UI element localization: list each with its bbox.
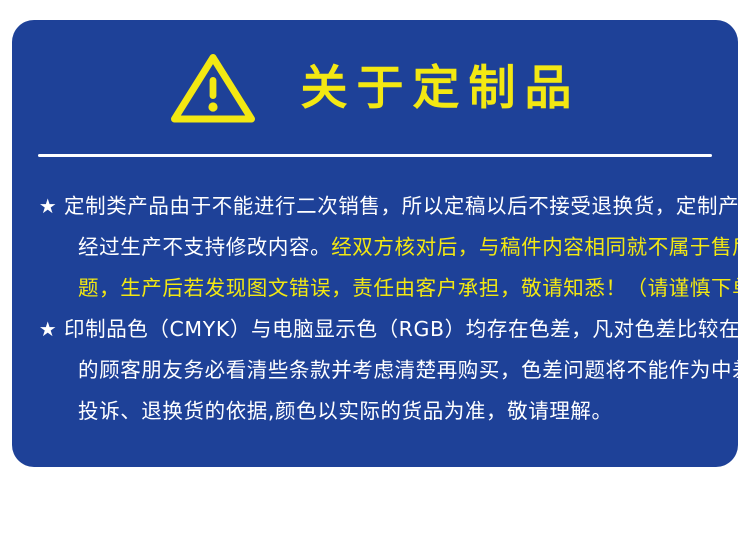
star-bullet-icon: ★ [37, 309, 59, 350]
text-run: 的顾客朋友务必看清些条款并考虑清楚再购买，色差问题将不能作为中差评、 [78, 358, 738, 382]
text-run: 经过生产不支持修改内容。 [78, 235, 331, 259]
page-title: 关于定制品 [292, 65, 581, 112]
text-line: 题，生产后若发现图文错误，责任由客户承担，敬请知悉！（请谨慎下单） [64, 268, 728, 309]
list-item-text: 定制类产品由于不能进行二次销售，所以定稿以后不接受退换货，定制产品 经过生产不支… [28, 186, 728, 309]
list-item: ★ 定制类产品由于不能进行二次销售，所以定稿以后不接受退换货，定制产品 经过生产… [28, 186, 728, 309]
star-bullet-icon: ★ [37, 186, 59, 227]
text-line: 经过生产不支持修改内容。经双方核对后，与稿件内容相同就不属于售后问 [64, 227, 728, 268]
notice-body: ★ 定制类产品由于不能进行二次销售，所以定稿以后不接受退换货，定制产品 经过生产… [28, 186, 728, 432]
text-line: 投诉、退换货的依据,颜色以实际的货品为准，敬请理解。 [64, 391, 728, 432]
notice-header: 关于定制品 [12, 42, 738, 134]
text-line: 印制品色（CMYK）与电脑显示色（RGB）均存在色差，凡对色差比较在意 [64, 309, 728, 350]
custom-product-notice-page: 关于定制品 ★ 定制类产品由于不能进行二次销售，所以定稿以后不接受退换货，定制产… [0, 0, 750, 539]
list-item-text: 印制品色（CMYK）与电脑显示色（RGB）均存在色差，凡对色差比较在意 的顾客朋… [28, 309, 728, 432]
header-divider [38, 154, 712, 157]
list-item: ★ 印制品色（CMYK）与电脑显示色（RGB）均存在色差，凡对色差比较在意 的顾… [28, 309, 728, 432]
text-line: 定制类产品由于不能进行二次销售，所以定稿以后不接受退换货，定制产品 [64, 186, 728, 227]
warning-triangle-icon [170, 51, 256, 125]
text-line: 的顾客朋友务必看清些条款并考虑清楚再购买，色差问题将不能作为中差评、 [64, 350, 728, 391]
text-run-highlight: 题，生产后若发现图文错误，责任由客户承担，敬请知悉！（请谨慎下单） [78, 276, 738, 300]
text-run: 投诉、退换货的依据,颜色以实际的货品为准，敬请理解。 [78, 399, 613, 423]
notice-panel: 关于定制品 ★ 定制类产品由于不能进行二次销售，所以定稿以后不接受退换货，定制产… [12, 20, 738, 467]
text-run: 印制品色（CMYK）与电脑显示色（RGB）均存在色差，凡对色差比较在意 [64, 317, 738, 341]
text-run-highlight: 经双方核对后，与稿件内容相同就不属于售后问 [331, 235, 738, 259]
text-run: 定制类产品由于不能进行二次销售，所以定稿以后不接受退换货，定制产品 [64, 194, 738, 218]
